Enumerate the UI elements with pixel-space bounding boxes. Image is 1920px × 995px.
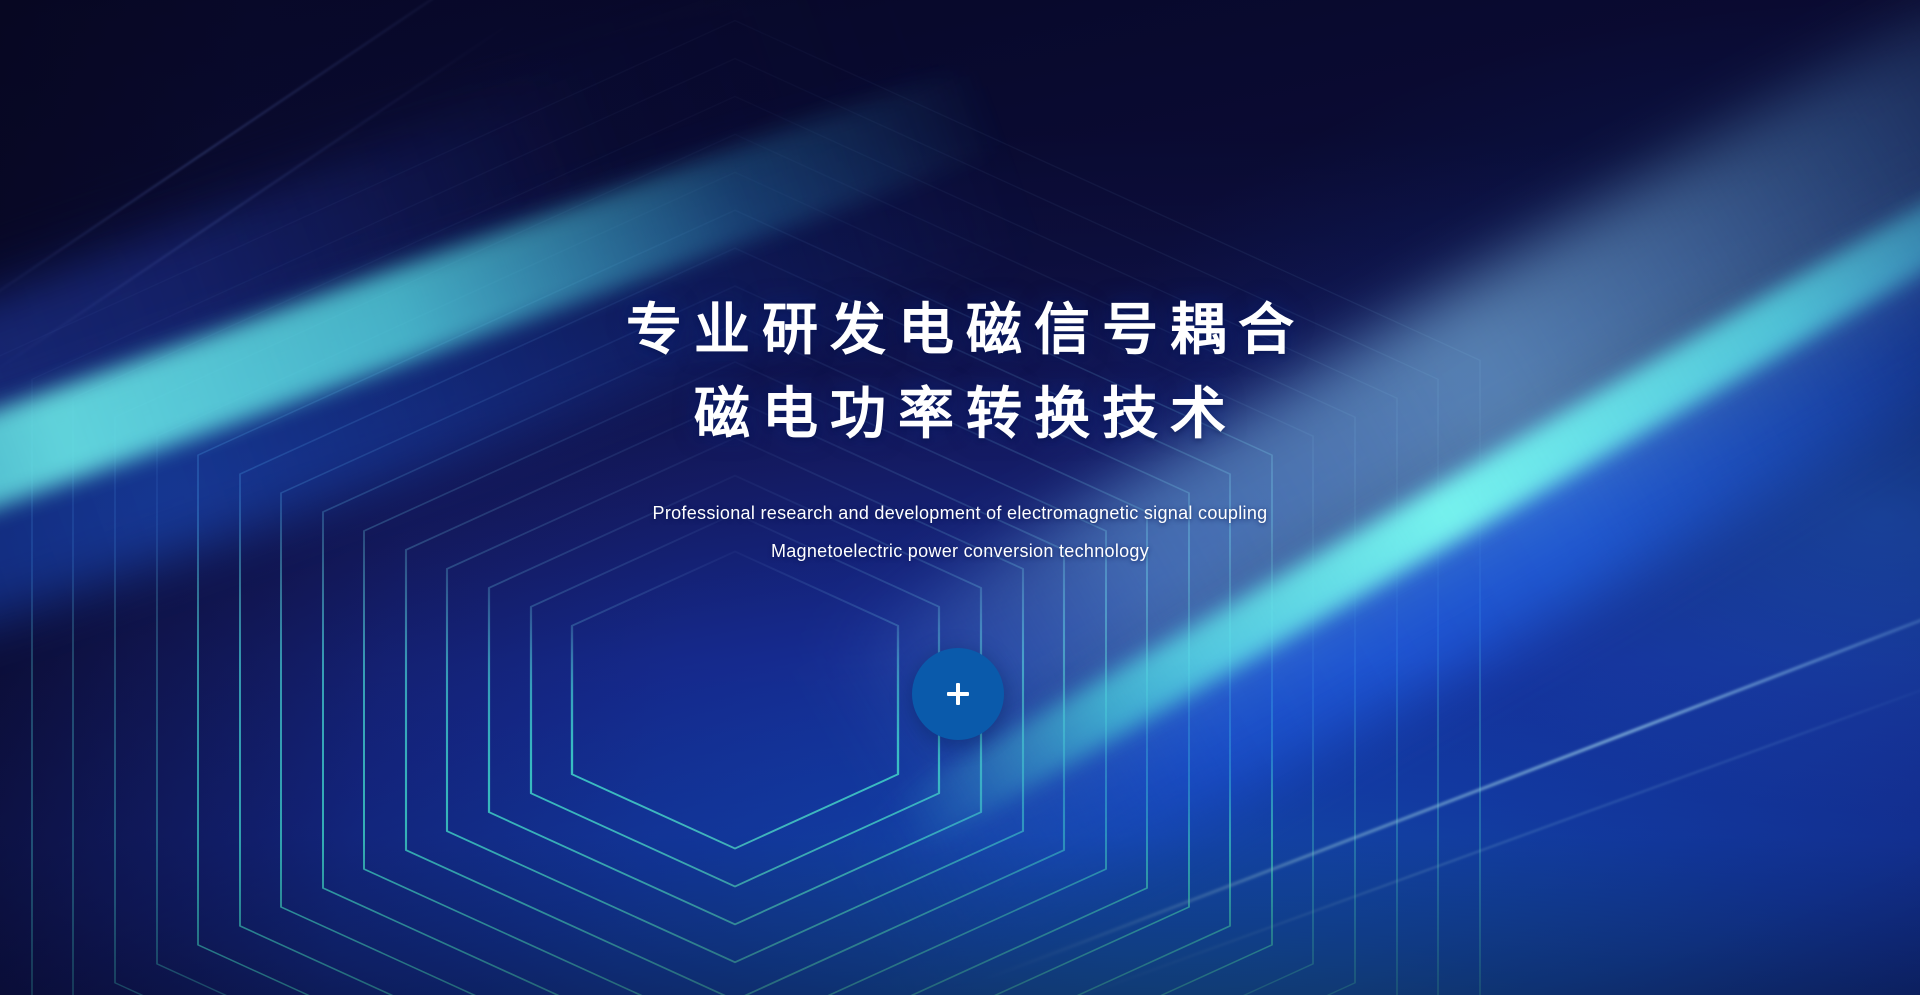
plus-button[interactable] — [912, 648, 1004, 740]
headline-line-2: 磁电功率转换技术 — [0, 372, 1920, 456]
subheadline-line-1: Professional research and development of… — [0, 494, 1920, 532]
headline-block: 专业研发电磁信号耦合 磁电功率转换技术 — [0, 288, 1920, 456]
banner-content: 专业研发电磁信号耦合 磁电功率转换技术 Professional researc… — [0, 0, 1920, 995]
hero-banner: 专业研发电磁信号耦合 磁电功率转换技术 Professional researc… — [0, 0, 1920, 995]
plus-icon — [947, 683, 969, 705]
subheadline-block: Professional research and development of… — [0, 494, 1920, 570]
subheadline-line-2: Magnetoelectric power conversion technol… — [0, 532, 1920, 570]
headline-line-1: 专业研发电磁信号耦合 — [0, 288, 1920, 372]
